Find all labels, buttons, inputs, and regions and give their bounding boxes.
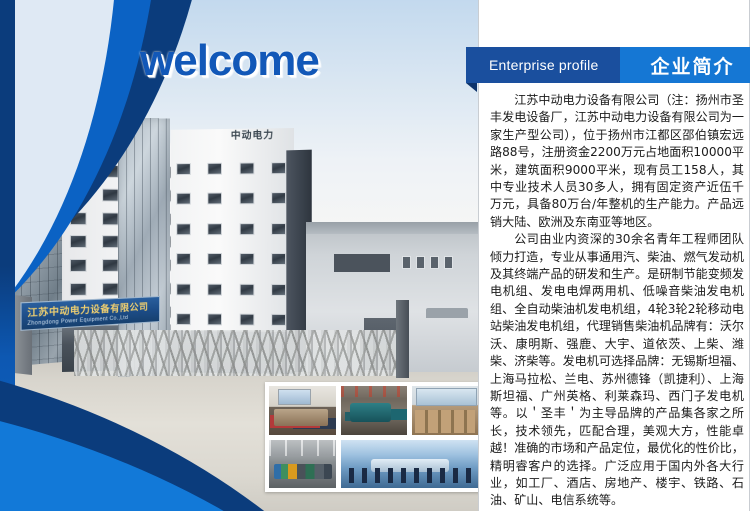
profile-paragraph-1: 江苏中动电力设备有限公司（注：扬州市圣丰发电设备厂，江苏中动电力设备有限公司为一… [490,92,744,231]
photo-collage [265,382,478,492]
welcome-heading: welcome [140,36,319,86]
gate-post-right [396,300,409,378]
generator-workshop-photo [340,385,409,436]
warehouse-canopy [426,308,468,318]
window-grid-right [176,162,286,326]
slide-root: 中动电力 江苏中动电力设备 [0,0,750,511]
enterprise-profile-banner: Enterprise profile 企业简介 [466,47,750,83]
warehouse-window [416,256,425,269]
profile-paragraph-2: 公司由业内资深的30余名青年工程师团队倾力打造，专业从事通用汽、柴油、燃气发动机… [490,231,744,510]
open-plan-office-photo [411,385,478,436]
profile-body-text: 江苏中动电力设备有限公司（注：扬州市圣丰发电设备厂，江苏中动电力设备有限公司为一… [490,92,744,510]
banner-chinese-title: 企业简介 [620,47,750,83]
hero-image-area: 中动电力 江苏中动电力设备 [0,0,478,511]
banner-english-title: Enterprise profile [466,47,620,83]
generator-warehouse-photo [268,439,337,490]
office-meeting-photo [268,385,337,436]
warehouse-panel [334,254,390,272]
roof-sign-label: 中动电力 [231,126,274,142]
warehouse-window [402,256,411,269]
boardroom-photo [340,439,478,490]
warehouse-window [430,256,439,269]
enterprise-profile-panel: Enterprise profile 企业简介 江苏中动电力设备有限公司（注：扬… [478,0,750,511]
banner-fold-corner [466,83,477,92]
accordion-gate [74,330,404,376]
warehouse-window [444,256,453,269]
